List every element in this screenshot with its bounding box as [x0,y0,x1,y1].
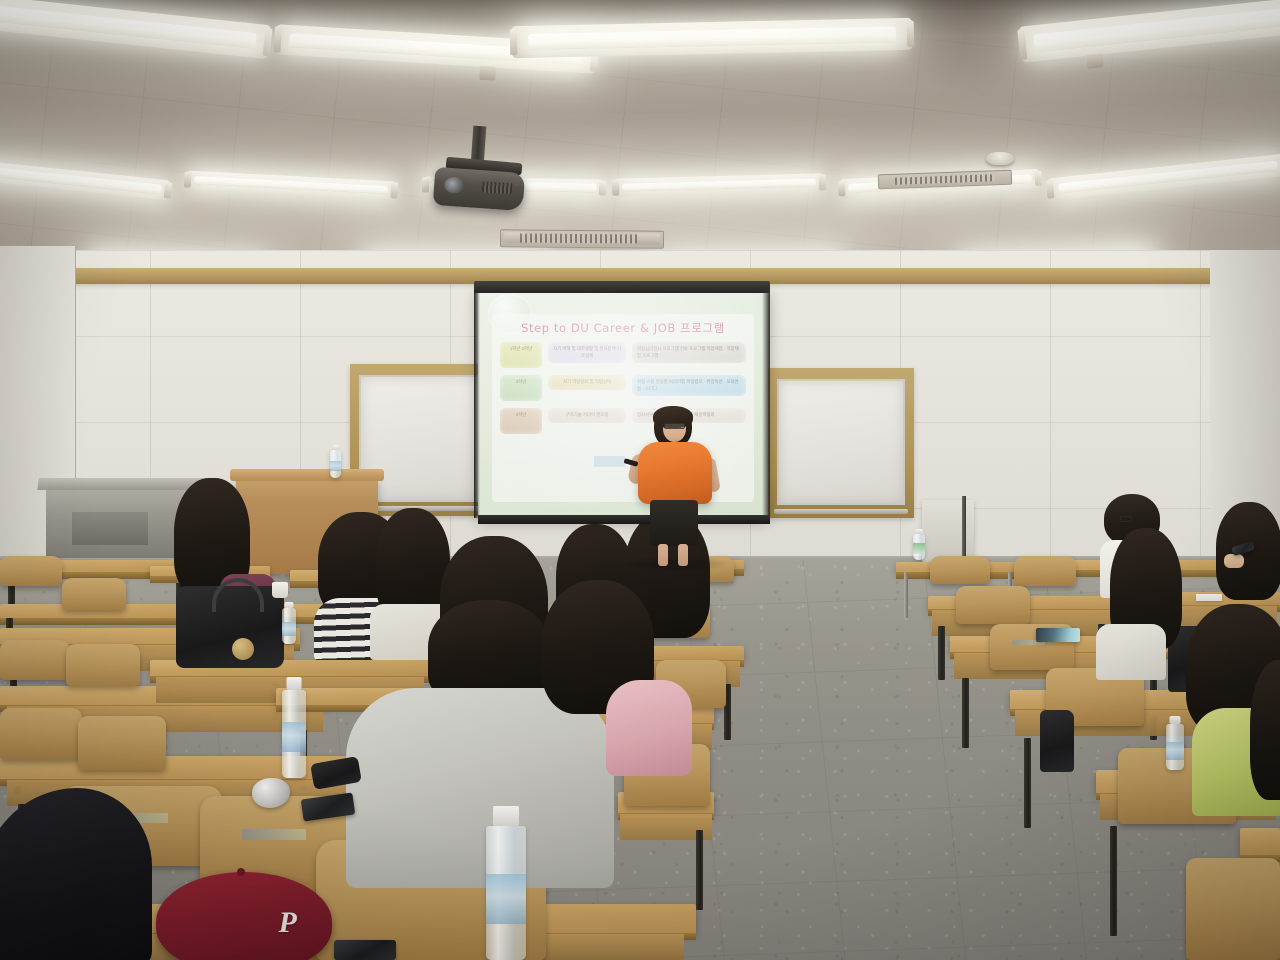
screen-bottom-bar [478,515,770,524]
presenter [638,406,712,566]
classroom-chair [1186,858,1280,960]
lectern-top [230,469,384,481]
presenter-orange-top [638,442,712,504]
classroom-chair [930,556,990,584]
slide-row-wide: 직업심리검사 프로그램 진로 프로그램 직업체험 · 직장체험 프로그램 [632,342,746,363]
screen-right-edge [762,290,770,518]
presenter-leg [658,544,668,566]
whiteboard-surface [359,375,489,503]
classroom-photo: Step to DU Career & JOB 프로그램 1학년 2학년 자기 … [0,0,1280,960]
classroom-chair [0,708,82,760]
ceiling-projector [433,167,525,211]
water-bottle [486,826,526,960]
student-hair [428,600,550,702]
whiteboard-marker-tray [774,509,908,514]
paper-sheet [1196,594,1222,601]
bottle-label [330,461,341,471]
water-bottle [282,608,296,644]
smoke-detector-icon [986,152,1014,165]
student-pink-hoodie [606,680,692,776]
desk-leg [962,678,969,748]
bottle-cap [1170,716,1181,724]
slide-title: Step to DU Career & JOB 프로그램 [478,320,768,336]
dark-foreground-shoulder [0,788,152,960]
classroom-chair [78,716,166,770]
glasses-icon [664,423,685,429]
desk-leg [1110,826,1117,936]
presenter-skirt [650,500,698,546]
backpack [1040,710,1074,772]
whiteboard-right [768,368,914,518]
water-bottle [1166,724,1184,770]
slide-row-middle: 자기 이해 및 대학생활 및 진로탐색 기초설계 [548,342,626,363]
slide-row-chip: 3학년 [500,375,542,401]
desk-leg [904,572,908,618]
classroom-chair [62,578,126,610]
desk-leg [1024,738,1031,828]
slide-row-middle: 자기 역량강화 및 직업선택 [548,375,626,390]
student-torso [1096,624,1166,680]
bottle-label [913,543,925,554]
cap-button [237,868,245,876]
water-bottle [282,690,306,778]
water-bottle [913,534,925,560]
classroom-chair [0,556,62,586]
paper-cup [272,582,288,598]
bottle-cap [287,677,302,690]
cap-team-letter: P [278,906,296,940]
slide-row: 3학년 자기 역량강화 및 직업선택 취업 스킬 전공별 커리어맵 취업캠프 ·… [500,375,746,401]
classroom-chair [956,586,1030,624]
classroom-chair [0,640,70,680]
desk-leg [938,626,945,680]
bottle-cap [493,806,519,826]
water-bottle [330,450,341,478]
handbag-charm [232,638,254,660]
projector-vent [482,181,513,194]
student-hand [1224,554,1244,568]
slide-row-chip: 1학년 2학년 [500,342,542,368]
notebook [1036,628,1080,642]
slide-row-middle: 구직기술 커리어 멘토링 [548,408,626,423]
projection-screen-housing [474,281,770,293]
screen-left-edge [474,290,480,518]
bottle-label [282,622,296,636]
classroom-chair [66,644,140,686]
slide-row-wide: 취업 스킬 전공별 커리어맵 취업캠프 · 취업특강 · 모의면접 · 스터디 [632,375,746,396]
console-panel [72,512,147,545]
bottle-label [1166,742,1184,760]
bottle-label [486,874,526,924]
smartphone [334,940,396,960]
classroom-chair [1014,556,1076,586]
bottle-cap [285,602,294,608]
projection-screen: Step to DU Career & JOB 프로그램 1학년 2학년 자기 … [478,290,768,518]
slide-row: 1학년 2학년 자기 이해 및 대학생활 및 진로탐색 기초설계 직업심리검사 … [500,342,746,368]
bottle-cap [915,529,923,534]
bottle-label [282,722,306,752]
projector-lens-icon [444,177,465,194]
glasses-icon [1120,516,1132,522]
slide-row-chip: 4학년 [500,408,542,434]
presenter-leg [678,544,688,566]
bottle-cap [332,445,339,450]
whiteboard-surface [777,379,905,505]
student-grey-tshirt [346,688,614,888]
desk-leg [696,830,703,910]
student-desk [1240,828,1280,856]
flipchart-stand [922,500,974,562]
